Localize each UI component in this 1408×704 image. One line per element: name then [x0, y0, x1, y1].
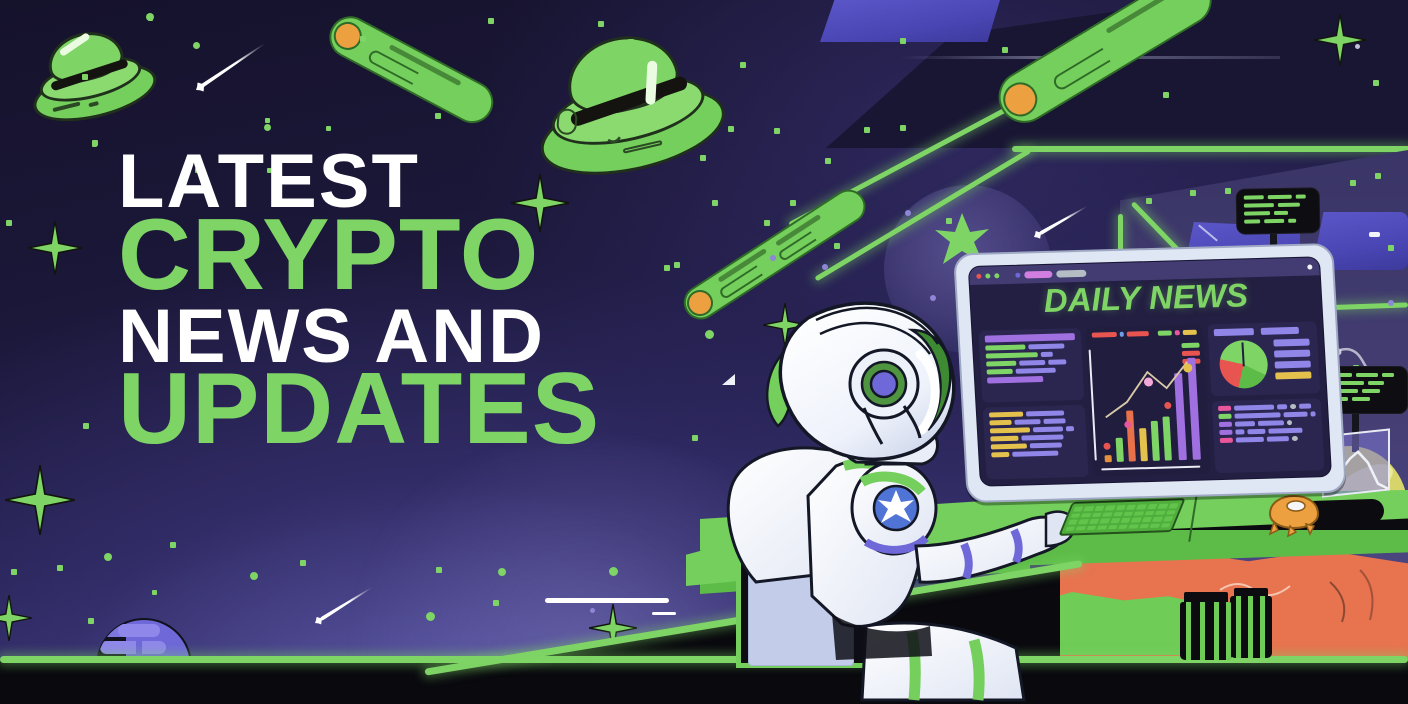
keyboard-key[interactable]: [1086, 525, 1096, 530]
star: [900, 38, 906, 44]
data-bar: [1258, 420, 1284, 426]
star: [770, 255, 776, 261]
keyboard-key[interactable]: [1118, 524, 1128, 529]
keyboard-key[interactable]: [1163, 516, 1173, 521]
chart-point: [1103, 443, 1110, 450]
data-bar: [1033, 426, 1063, 432]
keyboard-key[interactable]: [1116, 505, 1126, 510]
keyboard-key[interactable]: [1150, 523, 1160, 528]
keyboard-key[interactable]: [1071, 513, 1081, 518]
data-bar: [987, 369, 1013, 375]
side-screen-row: [1334, 389, 1400, 393]
side-screen-row: [1334, 373, 1400, 377]
star: [498, 568, 506, 576]
data-bar: [985, 333, 1075, 343]
pie-legend-swatch: [1273, 339, 1309, 347]
dashboard-right-column: [1207, 321, 1324, 473]
star: [705, 330, 714, 339]
star: [1355, 44, 1360, 49]
chart-line-series: [1095, 349, 1200, 429]
keyboard-key[interactable]: [1102, 512, 1112, 517]
star: [728, 126, 734, 132]
side-screen-bar: [1382, 373, 1394, 377]
card-row: [985, 333, 1075, 343]
keyboard-key[interactable]: [1094, 506, 1104, 511]
side-screen-row: [1334, 397, 1400, 401]
pie-legend-swatch: [1274, 350, 1310, 358]
keyboard-key[interactable]: [1110, 518, 1120, 523]
star: [1190, 190, 1196, 196]
chart-bar: [1105, 455, 1112, 462]
star: [326, 126, 331, 131]
headline-line-2: CRYPTO: [118, 210, 600, 301]
keyboard-keys[interactable]: [1065, 503, 1178, 531]
data-bar: [1043, 418, 1065, 424]
data-bar: [1219, 430, 1232, 435]
chart-bar: [1116, 437, 1124, 462]
star: [1002, 47, 1008, 53]
star: [493, 600, 499, 606]
pie-legend-swatch: [1275, 361, 1311, 369]
star: [905, 210, 911, 216]
data-bar: [1261, 327, 1299, 335]
data-bar: [1016, 368, 1056, 374]
data-bar: [987, 376, 1043, 384]
data-bar: [991, 443, 1027, 449]
data-bar: [1030, 442, 1062, 448]
data-bar: [1219, 422, 1232, 427]
data-bar: [1066, 426, 1074, 431]
card-row: [991, 450, 1081, 458]
data-bar: [1310, 411, 1315, 416]
keyboard[interactable]: [1058, 498, 1186, 536]
data-bar: [1267, 436, 1289, 442]
star: [864, 127, 870, 133]
data-bar: [1041, 352, 1053, 357]
star: [426, 612, 435, 621]
star: [264, 124, 271, 131]
keyboard-key[interactable]: [1079, 519, 1089, 524]
keyboard-key[interactable]: [1076, 526, 1086, 531]
card-row: [990, 434, 1080, 442]
data-bar: [1092, 332, 1117, 338]
star: [6, 220, 12, 226]
star: [193, 42, 200, 49]
keyboard-key[interactable]: [1137, 504, 1147, 509]
sparkle-star-2: [28, 221, 82, 275]
data-bar: [986, 361, 1016, 367]
star: [88, 618, 94, 624]
star: [1388, 300, 1394, 306]
card-row: [1219, 427, 1316, 435]
data-bar: [1299, 404, 1311, 409]
card-row: [1220, 435, 1317, 443]
card-row: [1218, 411, 1315, 419]
star: [92, 140, 98, 146]
data-bar: [1234, 412, 1280, 418]
keyboard-key[interactable]: [1121, 518, 1131, 523]
keyboard-key[interactable]: [1166, 510, 1176, 515]
keyboard-key[interactable]: [1089, 519, 1099, 524]
light-streak-1: [545, 598, 669, 603]
keyboard-key[interactable]: [1126, 505, 1136, 510]
card-row: [990, 426, 1080, 434]
side-screen-row: [1244, 210, 1312, 215]
star: [11, 569, 17, 575]
jar-group: [1178, 588, 1282, 660]
card-row: [987, 367, 1077, 375]
data-bar: [1218, 414, 1231, 419]
pie-legend: [1273, 339, 1311, 380]
browser-dot-green[interactable]: [985, 273, 990, 278]
keyboard-key[interactable]: [1084, 506, 1094, 511]
sparkle-star-3: [5, 465, 75, 535]
star: [170, 542, 176, 548]
side-screen-bar: [1274, 211, 1288, 215]
chart-bar: [1139, 428, 1148, 461]
chart-header-row: [1092, 330, 1197, 338]
card-row: [986, 351, 1076, 359]
data-bar: [1268, 428, 1302, 434]
keyboard-key[interactable]: [1145, 510, 1155, 515]
data-bar: [1028, 343, 1064, 349]
side-screen-bar: [1288, 219, 1296, 223]
star: [265, 118, 270, 123]
card-row: [989, 410, 1079, 418]
jar-back: [1230, 596, 1272, 658]
star: [834, 243, 840, 249]
keyboard-key[interactable]: [1131, 517, 1141, 522]
side-screen-bar: [1244, 195, 1264, 199]
side-screen-bar: [1268, 195, 1292, 199]
keyboard-key[interactable]: [1139, 523, 1149, 528]
star: [82, 74, 88, 80]
star: [360, 36, 366, 42]
keyboard-key[interactable]: [1113, 512, 1123, 517]
sparkle-star-6: [1314, 14, 1366, 66]
star: [152, 590, 157, 595]
light-streak-2: [652, 612, 676, 615]
data-bar: [1158, 330, 1173, 335]
pie-chart-wrap: [1214, 336, 1314, 391]
right-bottom-card[interactable]: [1212, 398, 1325, 473]
data-bar: [1021, 434, 1063, 440]
keyboard-key[interactable]: [1108, 525, 1118, 530]
pie-legend-swatch: [1275, 371, 1311, 379]
keyboard-key[interactable]: [1155, 510, 1165, 515]
left-top-card[interactable]: [978, 328, 1084, 403]
star: [488, 18, 494, 24]
star: [598, 21, 604, 27]
browser-accent-dot: [1015, 272, 1020, 277]
card-row: [1214, 327, 1311, 337]
side-screen-row: [1244, 202, 1312, 207]
star: [700, 155, 706, 161]
data-bar: [1234, 405, 1274, 411]
star: [740, 62, 746, 68]
side-screen-bar: [1244, 211, 1270, 215]
monitor[interactable]: DAILY NEWS: [953, 243, 1347, 503]
star: [57, 565, 63, 571]
data-bar: [1247, 429, 1265, 434]
data-bar: [1019, 360, 1045, 366]
headline-line-4: UPDATES: [118, 364, 600, 455]
keyboard-key[interactable]: [1123, 511, 1133, 516]
data-bar: [1012, 451, 1058, 457]
data-bar: [1048, 359, 1066, 364]
dashboard-panels: [978, 321, 1324, 479]
keyboard-key[interactable]: [1081, 513, 1091, 518]
star: [674, 262, 680, 268]
card-row: [1218, 403, 1315, 411]
star: [822, 264, 828, 270]
window-glint-2: [1369, 232, 1380, 237]
browser-url-pill[interactable]: [1056, 269, 1086, 277]
keyboard-key[interactable]: [1097, 525, 1107, 530]
side-screen-top-right[interactable]: [1236, 187, 1321, 234]
keyboard-key[interactable]: [1158, 504, 1168, 509]
star: [774, 128, 780, 134]
side-screen-bar: [1264, 219, 1284, 223]
donut-graphic: [1264, 492, 1324, 538]
left-bottom-card[interactable]: [983, 405, 1089, 480]
data-bar: [989, 412, 1023, 418]
data-bar: [1220, 438, 1233, 443]
data-bar: [1127, 331, 1149, 337]
keyboard-key[interactable]: [1147, 504, 1157, 509]
center-chart-card[interactable]: [1085, 325, 1210, 477]
keyboard-key[interactable]: [1073, 506, 1083, 511]
star: [692, 435, 698, 441]
keyboard-key[interactable]: [1105, 505, 1115, 510]
keyboard-key[interactable]: [1134, 511, 1144, 516]
star: [1388, 245, 1394, 251]
star: [1146, 198, 1152, 204]
star: [1350, 180, 1356, 186]
star: [664, 265, 670, 271]
star: [764, 220, 770, 226]
browser-dot-green-2[interactable]: [994, 273, 999, 278]
data-bar: [985, 344, 1025, 350]
chart-point: [1124, 421, 1131, 428]
star: [1225, 188, 1231, 194]
data-bar: [1283, 412, 1307, 418]
data-bar: [1235, 421, 1255, 427]
desk-donut-object: [1264, 492, 1324, 538]
side-screen-row: [1334, 381, 1400, 385]
data-bar: [1287, 420, 1292, 425]
star: [300, 560, 306, 566]
data-bar: [1120, 332, 1125, 337]
browser-menu-dot[interactable]: [1307, 264, 1312, 269]
side-screen-bar: [1352, 397, 1370, 401]
ceiling-glow-rail-horizontal: [1012, 146, 1408, 152]
star: [250, 572, 258, 580]
keyboard-key[interactable]: [1092, 512, 1102, 517]
star: [628, 39, 634, 45]
chart-x-axis: [1101, 465, 1200, 470]
star: [436, 567, 442, 573]
sparkle-star-9: [0, 595, 32, 641]
chart-plot-area: [1095, 349, 1202, 463]
star: [790, 200, 796, 206]
monitor-screen[interactable]: DAILY NEWS: [968, 256, 1332, 486]
ceiling-window: [820, 0, 1000, 42]
keyboard-key[interactable]: [1068, 519, 1078, 524]
data-bar: [1290, 404, 1296, 409]
data-bar: [991, 452, 1009, 457]
card-row: [985, 343, 1075, 351]
data-bar: [1175, 330, 1180, 335]
star: [712, 200, 718, 206]
data-bar: [986, 352, 1038, 358]
data-bar: [1218, 406, 1231, 411]
star: [146, 13, 154, 21]
keyboard-key[interactable]: [1129, 524, 1139, 529]
data-bar: [1236, 437, 1264, 443]
keyboard-key[interactable]: [1065, 526, 1075, 531]
star: [104, 553, 112, 561]
side-screen-bar: [1368, 381, 1384, 385]
right-top-card[interactable]: [1207, 321, 1320, 396]
star: [435, 113, 441, 119]
side-screen-bar: [1362, 389, 1380, 393]
card-row: [986, 359, 1076, 367]
star: [825, 158, 831, 164]
keyboard-key[interactable]: [1160, 523, 1170, 528]
side-screen-bar: [1356, 373, 1378, 377]
keyboard-key[interactable]: [1168, 503, 1178, 508]
keyboard-key[interactable]: [1142, 517, 1152, 522]
card-row: [989, 418, 1079, 426]
browser-dot-red[interactable]: [976, 273, 981, 278]
star: [83, 423, 89, 429]
card-row: [1219, 419, 1316, 427]
star: [1375, 173, 1381, 179]
data-bar: [1277, 404, 1287, 409]
crypto-news-banner: DAILY NEWS: [0, 0, 1408, 704]
jar-front: [1180, 602, 1232, 660]
keyboard-key[interactable]: [1152, 517, 1162, 522]
dashboard-left-column: [978, 328, 1088, 480]
side-screen-bar: [1244, 203, 1274, 208]
data-bar: [1182, 330, 1197, 335]
card-row: [987, 375, 1077, 384]
side-screen-bar: [1278, 203, 1300, 207]
legend-swatch: [1181, 343, 1199, 348]
star: [609, 567, 618, 576]
data-bar: [1214, 328, 1254, 336]
side-screen-row: [1244, 218, 1312, 223]
data-bar: [990, 436, 1018, 442]
chart-point: [1164, 401, 1171, 408]
page-title: LATEST CRYPTO NEWS AND UPDATES: [118, 148, 600, 455]
side-screen-bar: [1296, 195, 1306, 199]
data-bar: [1235, 429, 1244, 434]
data-bar: [989, 420, 1011, 426]
card-row: [991, 442, 1081, 450]
side-screen-row: [1244, 194, 1312, 199]
data-bar: [990, 427, 1030, 433]
star: [1373, 80, 1379, 86]
star: [900, 125, 906, 131]
keyboard-key[interactable]: [1100, 518, 1110, 523]
data-bar: [1014, 419, 1040, 425]
star: [946, 218, 952, 224]
star: [590, 608, 595, 613]
data-bar: [1026, 410, 1064, 416]
browser-tab-pill[interactable]: [1024, 270, 1052, 278]
side-screen-bar: [1244, 219, 1260, 223]
data-bar: [1292, 436, 1298, 441]
star: [1163, 92, 1169, 98]
